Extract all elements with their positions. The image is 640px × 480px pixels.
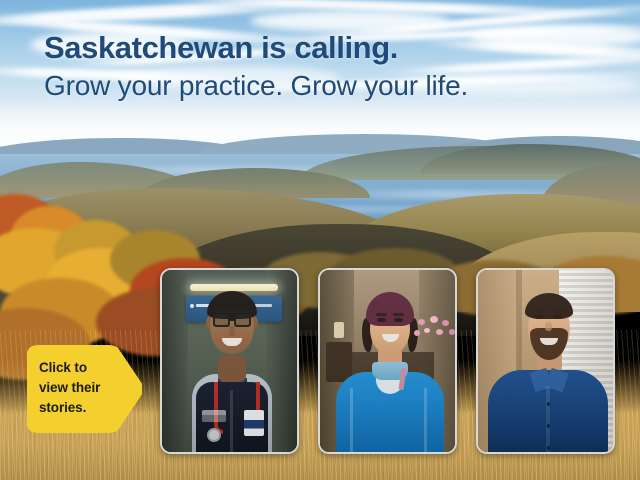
eyeglasses-icon: [213, 314, 230, 327]
practitioner-photo: [478, 270, 613, 452]
callout-label-line-2: view their: [39, 378, 121, 398]
portrait-card-surgeon[interactable]: [318, 268, 457, 454]
portrait-card-practitioner[interactable]: [476, 268, 615, 454]
headline-line-1: Saskatchewan is calling.: [44, 32, 468, 65]
callout-label-line-3: stories.: [39, 398, 121, 418]
callout-label: Click to view their stories.: [39, 358, 121, 418]
physician-photo: [162, 270, 297, 452]
portrait-card-row: [160, 268, 616, 454]
headline-line-2: Grow your practice. Grow your life.: [44, 71, 468, 101]
stethoscope-icon: [214, 382, 223, 434]
id-badge: [244, 410, 264, 436]
page-title: Saskatchewan is calling. Grow your pract…: [44, 32, 468, 101]
recruitment-banner: Saskatchewan is calling. Grow your pract…: [0, 0, 640, 480]
ceiling-light: [190, 284, 278, 291]
surgeon-photo: [320, 270, 455, 452]
portrait-card-physician[interactable]: [160, 268, 299, 454]
callout-label-line-1: Click to: [39, 358, 121, 378]
view-stories-callout-button[interactable]: Click to view their stories.: [27, 345, 142, 433]
